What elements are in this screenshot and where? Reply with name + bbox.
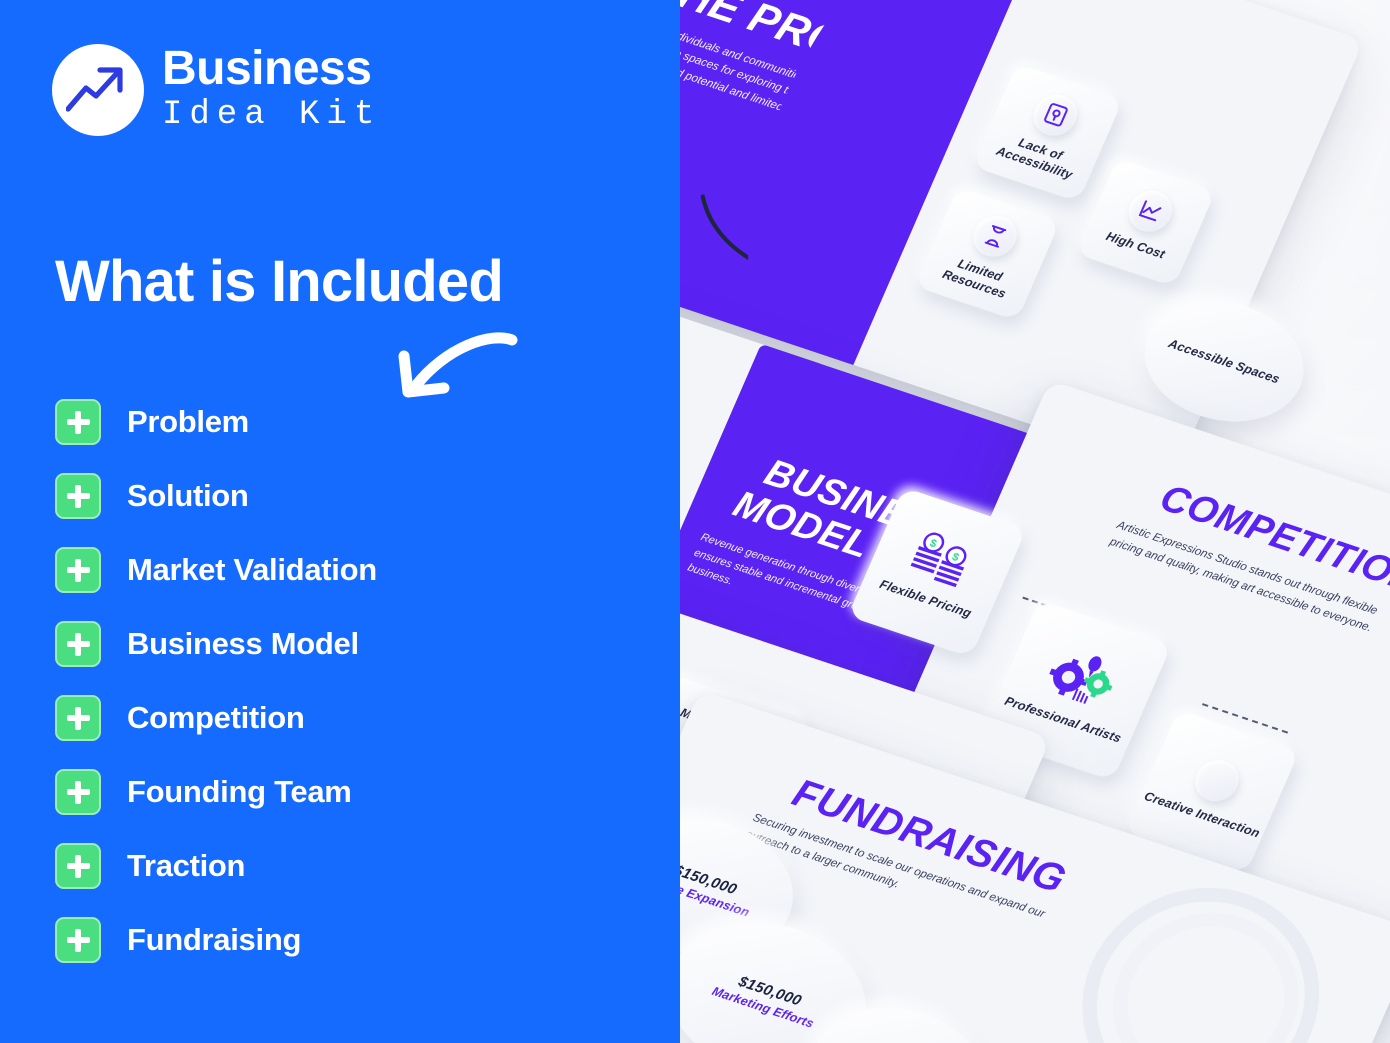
brand-name-line1: Business: [162, 45, 381, 93]
problem-card-accessibility[interactable]: Lack of Accessibility: [972, 63, 1123, 202]
plus-icon: [55, 769, 101, 815]
brand-name-line2: Idea Kit: [162, 95, 381, 136]
list-item[interactable]: Competition: [55, 681, 615, 755]
feature-label: Problem: [127, 404, 249, 440]
problem-side-label: Accessible Spaces: [1166, 336, 1282, 386]
list-item[interactable]: Market Validation: [55, 533, 615, 607]
lock-document-icon: [1027, 89, 1084, 141]
feature-label: Competition: [127, 700, 305, 736]
problem-card-resources-label: Limited Resources: [920, 246, 1034, 307]
problem-card-accessibility-label: Lack of Accessibility: [978, 125, 1096, 188]
plus-icon: [55, 473, 101, 519]
feature-label: Market Validation: [127, 552, 377, 588]
declining-chart-icon: [1122, 185, 1179, 237]
list-item[interactable]: Business Model: [55, 607, 615, 681]
plus-icon: [55, 917, 101, 963]
list-item[interactable]: Traction: [55, 829, 615, 903]
list-item[interactable]: Founding Team: [55, 755, 615, 829]
list-item[interactable]: Problem: [55, 385, 615, 459]
plus-icon: [55, 399, 101, 445]
plus-icon: [55, 547, 101, 593]
feature-label: Founding Team: [127, 774, 352, 810]
problem-card-highcost[interactable]: High Cost: [1075, 158, 1215, 287]
list-item[interactable]: Fundraising: [55, 903, 615, 977]
feature-label: Business Model: [127, 626, 359, 662]
feature-label: Solution: [127, 478, 249, 514]
plus-icon: [55, 621, 101, 667]
gears-brush-icon: [1036, 642, 1125, 717]
problem-card-highcost-label: High Cost: [1104, 229, 1168, 262]
interaction-icon: [1189, 755, 1246, 807]
included-features-list: Problem Solution Market Validation Busin…: [55, 385, 615, 977]
left-blue-panel: Business Idea Kit What is Included Probl…: [0, 0, 680, 1043]
curved-arrow-right-icon: [674, 188, 882, 313]
brand-logo[interactable]: Business Idea Kit: [52, 44, 381, 136]
hourglass-icon: [967, 210, 1024, 262]
problem-card-resources[interactable]: Limited Resources: [915, 187, 1061, 321]
feature-label: Traction: [127, 848, 245, 884]
plus-icon: [55, 695, 101, 741]
feature-label: Fundraising: [127, 922, 301, 958]
coins-stack-icon: $ $: [902, 528, 981, 595]
plus-icon: [55, 843, 101, 889]
list-item[interactable]: Solution: [55, 459, 615, 533]
page-title: What is Included: [55, 248, 503, 315]
growth-chart-arrow-icon: [52, 44, 144, 136]
